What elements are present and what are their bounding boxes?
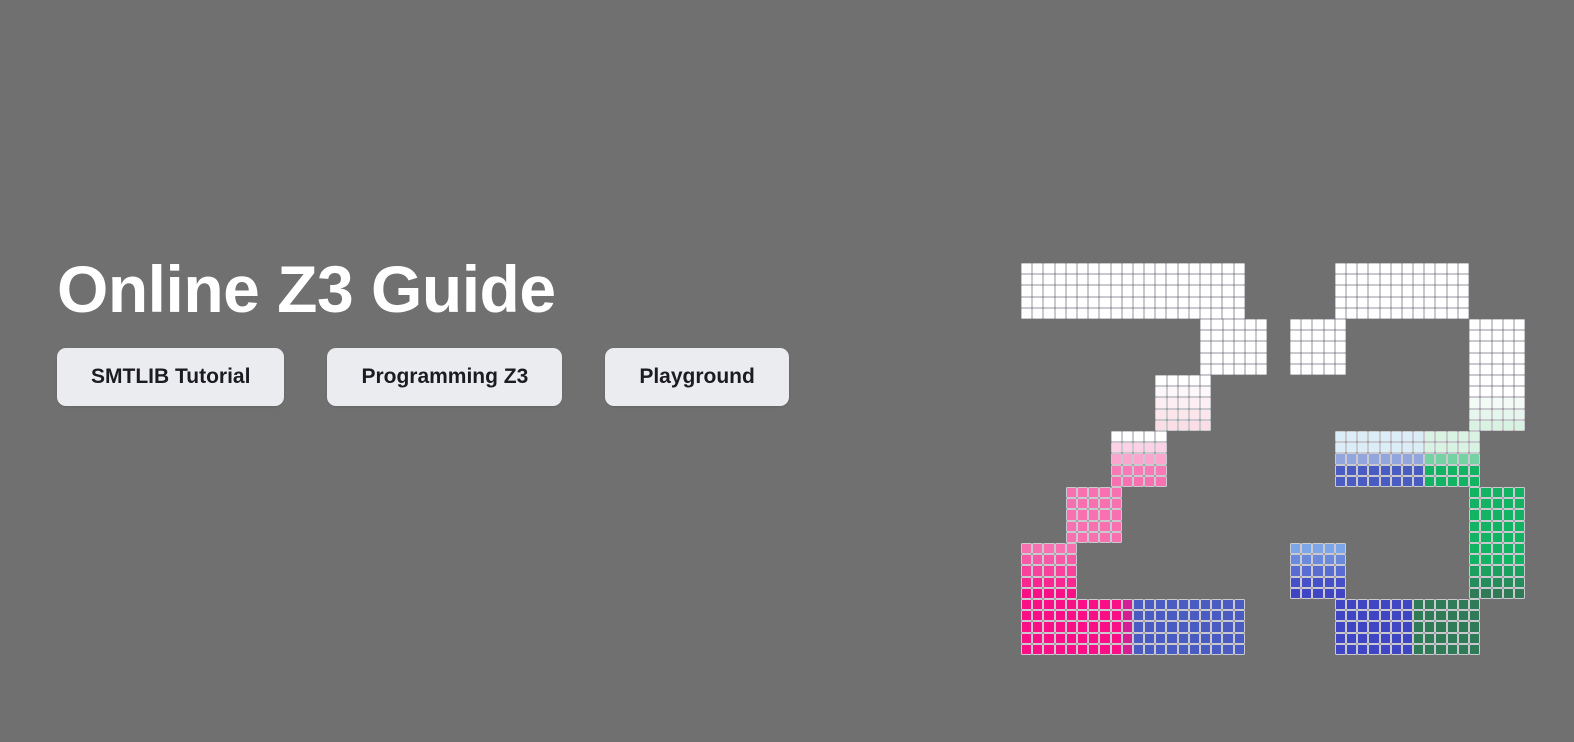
logo-pixel bbox=[1458, 442, 1469, 453]
logo-pixel bbox=[1514, 509, 1525, 520]
logo-pixel bbox=[1514, 409, 1525, 420]
logo-pixel bbox=[1492, 386, 1503, 397]
logo-pixel bbox=[1211, 341, 1222, 352]
logo-pixel bbox=[1435, 465, 1446, 476]
logo-pixel bbox=[1111, 308, 1122, 319]
logo-pixel bbox=[1077, 610, 1088, 621]
logo-pixel bbox=[1166, 644, 1177, 655]
logo-pixel bbox=[1290, 577, 1301, 588]
logo-pixel bbox=[1469, 621, 1480, 632]
logo-pixel bbox=[1335, 577, 1346, 588]
logo-pixel bbox=[1346, 476, 1357, 487]
logo-pixel bbox=[1514, 330, 1525, 341]
logo-pixel bbox=[1099, 599, 1110, 610]
logo-pixel bbox=[1043, 297, 1054, 308]
logo-pixel bbox=[1380, 610, 1391, 621]
logo-pixel bbox=[1088, 621, 1099, 632]
logo-pixel bbox=[1234, 353, 1245, 364]
logo-pixel bbox=[1200, 364, 1211, 375]
logo-pixel bbox=[1290, 543, 1301, 554]
logo-pixel bbox=[1424, 599, 1435, 610]
logo-pixel bbox=[1335, 319, 1346, 330]
logo-pixel bbox=[1469, 386, 1480, 397]
logo-pixel bbox=[1099, 487, 1110, 498]
logo-pixel bbox=[1144, 263, 1155, 274]
logo-pixel bbox=[1144, 610, 1155, 621]
logo-pixel bbox=[1133, 431, 1144, 442]
logo-pixel bbox=[1200, 420, 1211, 431]
logo-pixel bbox=[1312, 543, 1323, 554]
logo-pixel bbox=[1413, 599, 1424, 610]
logo-pixel bbox=[1312, 577, 1323, 588]
logo-pixel bbox=[1368, 274, 1379, 285]
logo-pixel bbox=[1492, 409, 1503, 420]
logo-pixel bbox=[1111, 610, 1122, 621]
logo-pixel bbox=[1099, 610, 1110, 621]
logo-pixel bbox=[1189, 409, 1200, 420]
logo-pixel bbox=[1368, 263, 1379, 274]
logo-pixel bbox=[1435, 644, 1446, 655]
logo-pixel bbox=[1402, 599, 1413, 610]
logo-pixel bbox=[1189, 386, 1200, 397]
logo-pixel bbox=[1435, 633, 1446, 644]
logo-pixel bbox=[1200, 263, 1211, 274]
logo-pixel bbox=[1402, 297, 1413, 308]
logo-pixel bbox=[1503, 409, 1514, 420]
logo-pixel bbox=[1088, 599, 1099, 610]
logo-pixel bbox=[1055, 599, 1066, 610]
logo-pixel bbox=[1368, 297, 1379, 308]
logo-pixel bbox=[1043, 633, 1054, 644]
logo-pixel bbox=[1492, 375, 1503, 386]
logo-pixel bbox=[1043, 610, 1054, 621]
logo-pixel bbox=[1077, 521, 1088, 532]
logo-pixel bbox=[1122, 621, 1133, 632]
logo-pixel bbox=[1335, 341, 1346, 352]
logo-pixel bbox=[1144, 599, 1155, 610]
logo-pixel bbox=[1357, 476, 1368, 487]
logo-pixel bbox=[1200, 409, 1211, 420]
logo-pixel bbox=[1155, 386, 1166, 397]
logo-pixel bbox=[1503, 577, 1514, 588]
logo-pixel bbox=[1111, 263, 1122, 274]
logo-pixel bbox=[1503, 543, 1514, 554]
logo-pixel bbox=[1469, 588, 1480, 599]
logo-pixel bbox=[1122, 442, 1133, 453]
logo-pixel bbox=[1391, 431, 1402, 442]
logo-pixel bbox=[1144, 621, 1155, 632]
logo-pixel bbox=[1503, 565, 1514, 576]
logo-pixel bbox=[1144, 431, 1155, 442]
logo-pixel bbox=[1099, 521, 1110, 532]
logo-pixel bbox=[1043, 285, 1054, 296]
hero-text-block: Online Z3 Guide SMTLIB Tutorial Programm… bbox=[57, 256, 957, 406]
logo-pixel bbox=[1200, 341, 1211, 352]
logo-pixel bbox=[1122, 431, 1133, 442]
logo-pixel bbox=[1066, 297, 1077, 308]
logo-pixel bbox=[1099, 644, 1110, 655]
logo-pixel bbox=[1021, 588, 1032, 599]
logo-pixel bbox=[1424, 442, 1435, 453]
logo-pixel bbox=[1346, 621, 1357, 632]
logo-pixel bbox=[1503, 375, 1514, 386]
logo-pixel bbox=[1122, 599, 1133, 610]
logo-pixel bbox=[1111, 509, 1122, 520]
logo-pixel bbox=[1055, 554, 1066, 565]
logo-pixel bbox=[1111, 453, 1122, 464]
logo-pixel bbox=[1077, 498, 1088, 509]
logo-pixel bbox=[1178, 263, 1189, 274]
logo-pixel bbox=[1380, 644, 1391, 655]
logo-pixel bbox=[1234, 621, 1245, 632]
z-top-right bbox=[1200, 319, 1267, 375]
logo-pixel bbox=[1458, 263, 1469, 274]
logo-pixel bbox=[1211, 274, 1222, 285]
logo-pixel bbox=[1234, 274, 1245, 285]
logo-pixel bbox=[1211, 644, 1222, 655]
programming-z3-button[interactable]: Programming Z3 bbox=[327, 348, 562, 406]
logo-pixel bbox=[1066, 532, 1077, 543]
logo-pixel bbox=[1032, 610, 1043, 621]
logo-pixel bbox=[1357, 610, 1368, 621]
logo-pixel bbox=[1413, 465, 1424, 476]
logo-pixel bbox=[1043, 263, 1054, 274]
logo-pixel bbox=[1514, 521, 1525, 532]
logo-pixel bbox=[1133, 442, 1144, 453]
logo-pixel bbox=[1111, 285, 1122, 296]
logo-pixel bbox=[1234, 285, 1245, 296]
logo-pixel bbox=[1458, 610, 1469, 621]
logo-pixel bbox=[1178, 599, 1189, 610]
logo-pixel bbox=[1413, 633, 1424, 644]
logo-pixel bbox=[1447, 431, 1458, 442]
logo-pixel bbox=[1514, 397, 1525, 408]
logo-pixel bbox=[1223, 319, 1234, 330]
logo-pixel bbox=[1133, 297, 1144, 308]
logo-pixel bbox=[1200, 285, 1211, 296]
logo-pixel bbox=[1402, 476, 1413, 487]
logo-pixel bbox=[1503, 330, 1514, 341]
logo-pixel bbox=[1312, 588, 1323, 599]
logo-pixel bbox=[1346, 308, 1357, 319]
logo-pixel bbox=[1256, 330, 1267, 341]
logo-pixel bbox=[1211, 330, 1222, 341]
logo-pixel bbox=[1021, 285, 1032, 296]
logo-pixel bbox=[1144, 297, 1155, 308]
logo-pixel bbox=[1077, 633, 1088, 644]
logo-pixel bbox=[1166, 263, 1177, 274]
logo-pixel bbox=[1301, 330, 1312, 341]
logo-pixel bbox=[1222, 263, 1233, 274]
logo-pixel bbox=[1234, 308, 1245, 319]
logo-pixel bbox=[1391, 285, 1402, 296]
logo-pixel bbox=[1469, 498, 1480, 509]
logo-pixel bbox=[1435, 610, 1446, 621]
logo-pixel bbox=[1122, 285, 1133, 296]
logo-pixel bbox=[1155, 621, 1166, 632]
logo-pixel bbox=[1111, 476, 1122, 487]
logo-pixel bbox=[1503, 509, 1514, 520]
logo-pixel bbox=[1133, 621, 1144, 632]
logo-pixel bbox=[1335, 465, 1346, 476]
logo-pixel bbox=[1133, 599, 1144, 610]
logo-pixel bbox=[1166, 308, 1177, 319]
logo-pixel bbox=[1335, 565, 1346, 576]
logo-pixel bbox=[1469, 633, 1480, 644]
logo-pixel bbox=[1492, 543, 1503, 554]
logo-pixel bbox=[1043, 543, 1054, 554]
logo-pixel bbox=[1178, 297, 1189, 308]
logo-pixel bbox=[1368, 453, 1379, 464]
logo-pixel bbox=[1043, 599, 1054, 610]
logo-pixel bbox=[1111, 633, 1122, 644]
logo-pixel bbox=[1503, 588, 1514, 599]
logo-pixel bbox=[1380, 465, 1391, 476]
page-title: Online Z3 Guide bbox=[57, 256, 957, 322]
logo-pixel bbox=[1480, 565, 1491, 576]
logo-pixel bbox=[1402, 610, 1413, 621]
logo-pixel bbox=[1088, 498, 1099, 509]
logo-pixel bbox=[1088, 509, 1099, 520]
logo-pixel bbox=[1380, 621, 1391, 632]
logo-pixel bbox=[1413, 285, 1424, 296]
three-right-upper bbox=[1469, 319, 1525, 431]
logo-pixel bbox=[1480, 353, 1491, 364]
logo-pixel bbox=[1312, 341, 1323, 352]
logo-pixel bbox=[1447, 285, 1458, 296]
z-top-bar bbox=[1021, 263, 1245, 319]
logo-pixel bbox=[1435, 453, 1446, 464]
logo-pixel bbox=[1223, 364, 1234, 375]
logo-pixel bbox=[1066, 644, 1077, 655]
logo-pixel bbox=[1380, 297, 1391, 308]
logo-pixel bbox=[1402, 633, 1413, 644]
logo-pixel bbox=[1111, 498, 1122, 509]
logo-pixel bbox=[1066, 274, 1077, 285]
logo-pixel bbox=[1447, 644, 1458, 655]
logo-pixel bbox=[1077, 308, 1088, 319]
logo-pixel bbox=[1514, 420, 1525, 431]
logo-pixel bbox=[1324, 543, 1335, 554]
logo-pixel bbox=[1480, 509, 1491, 520]
logo-pixel bbox=[1111, 297, 1122, 308]
logo-pixel bbox=[1492, 487, 1503, 498]
logo-pixel bbox=[1413, 621, 1424, 632]
logo-pixel bbox=[1043, 644, 1054, 655]
logo-pixel bbox=[1200, 610, 1211, 621]
logo-pixel bbox=[1458, 274, 1469, 285]
logo-pixel bbox=[1368, 442, 1379, 453]
logo-pixel bbox=[1357, 599, 1368, 610]
logo-pixel bbox=[1391, 297, 1402, 308]
logo-pixel bbox=[1166, 297, 1177, 308]
logo-pixel bbox=[1380, 263, 1391, 274]
logo-pixel bbox=[1043, 554, 1054, 565]
logo-pixel bbox=[1166, 610, 1177, 621]
logo-pixel bbox=[1402, 274, 1413, 285]
logo-pixel bbox=[1066, 610, 1077, 621]
logo-pixel bbox=[1435, 621, 1446, 632]
logo-pixel bbox=[1380, 431, 1391, 442]
logo-pixel bbox=[1335, 588, 1346, 599]
logo-pixel bbox=[1144, 453, 1155, 464]
logo-pixel bbox=[1368, 476, 1379, 487]
three-bottom-bar bbox=[1335, 599, 1480, 655]
logo-pixel bbox=[1099, 297, 1110, 308]
logo-pixel bbox=[1301, 588, 1312, 599]
logo-pixel bbox=[1469, 532, 1480, 543]
logo-pixel bbox=[1055, 263, 1066, 274]
logo-pixel bbox=[1357, 297, 1368, 308]
logo-pixel bbox=[1155, 476, 1166, 487]
logo-pixel bbox=[1368, 644, 1379, 655]
logo-pixel bbox=[1178, 285, 1189, 296]
logo-pixel bbox=[1391, 442, 1402, 453]
logo-pixel bbox=[1402, 621, 1413, 632]
logo-pixel bbox=[1122, 308, 1133, 319]
logo-pixel bbox=[1234, 330, 1245, 341]
logo-pixel bbox=[1380, 308, 1391, 319]
logo-pixel bbox=[1032, 577, 1043, 588]
logo-pixel bbox=[1189, 297, 1200, 308]
three-top-left bbox=[1290, 319, 1346, 375]
logo-pixel bbox=[1290, 364, 1301, 375]
logo-pixel bbox=[1324, 330, 1335, 341]
logo-pixel bbox=[1144, 476, 1155, 487]
logo-pixel bbox=[1447, 465, 1458, 476]
logo-pixel bbox=[1122, 453, 1133, 464]
logo-pixel bbox=[1066, 577, 1077, 588]
logo-pixel bbox=[1402, 442, 1413, 453]
logo-pixel bbox=[1391, 274, 1402, 285]
logo-pixel bbox=[1088, 285, 1099, 296]
logo-pixel bbox=[1021, 644, 1032, 655]
logo-pixel bbox=[1514, 554, 1525, 565]
logo-pixel bbox=[1222, 274, 1233, 285]
logo-pixel bbox=[1133, 465, 1144, 476]
logo-pixel bbox=[1211, 621, 1222, 632]
logo-pixel bbox=[1200, 386, 1211, 397]
logo-pixel bbox=[1211, 319, 1222, 330]
logo-pixel bbox=[1368, 621, 1379, 632]
logo-pixel bbox=[1413, 442, 1424, 453]
logo-pixel bbox=[1189, 420, 1200, 431]
logo-pixel bbox=[1099, 532, 1110, 543]
logo-pixel bbox=[1480, 341, 1491, 352]
logo-pixel bbox=[1055, 308, 1066, 319]
logo-pixel bbox=[1245, 330, 1256, 341]
logo-pixel bbox=[1144, 285, 1155, 296]
logo-pixel bbox=[1514, 353, 1525, 364]
smtlib-tutorial-button[interactable]: SMTLIB Tutorial bbox=[57, 348, 284, 406]
logo-pixel bbox=[1368, 633, 1379, 644]
logo-pixel bbox=[1514, 487, 1525, 498]
logo-pixel bbox=[1111, 532, 1122, 543]
logo-pixel bbox=[1469, 465, 1480, 476]
logo-pixel bbox=[1391, 465, 1402, 476]
logo-pixel bbox=[1234, 599, 1245, 610]
logo-pixel bbox=[1111, 599, 1122, 610]
logo-pixel bbox=[1222, 621, 1233, 632]
logo-pixel bbox=[1357, 274, 1368, 285]
logo-pixel bbox=[1211, 297, 1222, 308]
logo-pixel bbox=[1424, 308, 1435, 319]
logo-pixel bbox=[1469, 431, 1480, 442]
logo-pixel bbox=[1200, 297, 1211, 308]
logo-pixel bbox=[1021, 621, 1032, 632]
logo-pixel bbox=[1200, 375, 1211, 386]
logo-pixel bbox=[1021, 554, 1032, 565]
logo-pixel bbox=[1469, 409, 1480, 420]
logo-pixel bbox=[1144, 442, 1155, 453]
logo-pixel bbox=[1111, 621, 1122, 632]
logo-pixel bbox=[1167, 386, 1178, 397]
logo-pixel bbox=[1458, 453, 1469, 464]
logo-pixel bbox=[1211, 633, 1222, 644]
logo-pixel bbox=[1189, 599, 1200, 610]
logo-pixel bbox=[1380, 633, 1391, 644]
logo-pixel bbox=[1346, 644, 1357, 655]
logo-pixel bbox=[1435, 599, 1446, 610]
logo-pixel bbox=[1480, 375, 1491, 386]
logo-pixel bbox=[1402, 644, 1413, 655]
logo-pixel bbox=[1469, 397, 1480, 408]
logo-pixel bbox=[1357, 263, 1368, 274]
logo-pixel bbox=[1032, 565, 1043, 576]
logo-pixel bbox=[1133, 633, 1144, 644]
logo-pixel bbox=[1324, 577, 1335, 588]
logo-pixel bbox=[1480, 330, 1491, 341]
logo-pixel bbox=[1167, 409, 1178, 420]
logo-pixel bbox=[1469, 577, 1480, 588]
logo-pixel bbox=[1503, 498, 1514, 509]
logo-pixel bbox=[1413, 308, 1424, 319]
logo-pixel bbox=[1335, 364, 1346, 375]
logo-pixel bbox=[1189, 633, 1200, 644]
logo-pixel bbox=[1391, 308, 1402, 319]
logo-pixel bbox=[1077, 263, 1088, 274]
logo-pixel bbox=[1492, 565, 1503, 576]
logo-pixel bbox=[1200, 621, 1211, 632]
logo-pixel bbox=[1166, 599, 1177, 610]
logo-pixel bbox=[1178, 409, 1189, 420]
logo-pixel bbox=[1211, 610, 1222, 621]
logo-pixel bbox=[1469, 330, 1480, 341]
logo-pixel bbox=[1424, 285, 1435, 296]
logo-pixel bbox=[1200, 308, 1211, 319]
logo-pixel bbox=[1021, 577, 1032, 588]
logo-pixel bbox=[1469, 543, 1480, 554]
logo-pixel bbox=[1088, 610, 1099, 621]
logo-pixel bbox=[1077, 274, 1088, 285]
logo-pixel bbox=[1200, 274, 1211, 285]
logo-pixel bbox=[1324, 588, 1335, 599]
logo-pixel bbox=[1066, 543, 1077, 554]
logo-pixel bbox=[1066, 521, 1077, 532]
logo-pixel bbox=[1357, 308, 1368, 319]
logo-pixel bbox=[1503, 364, 1514, 375]
logo-pixel bbox=[1301, 543, 1312, 554]
logo-pixel bbox=[1312, 364, 1323, 375]
logo-pixel bbox=[1335, 308, 1346, 319]
logo-pixel bbox=[1301, 554, 1312, 565]
playground-button[interactable]: Playground bbox=[605, 348, 789, 406]
logo-pixel bbox=[1099, 285, 1110, 296]
logo-pixel bbox=[1021, 610, 1032, 621]
logo-pixel bbox=[1380, 285, 1391, 296]
logo-pixel bbox=[1380, 442, 1391, 453]
logo-pixel bbox=[1066, 308, 1077, 319]
